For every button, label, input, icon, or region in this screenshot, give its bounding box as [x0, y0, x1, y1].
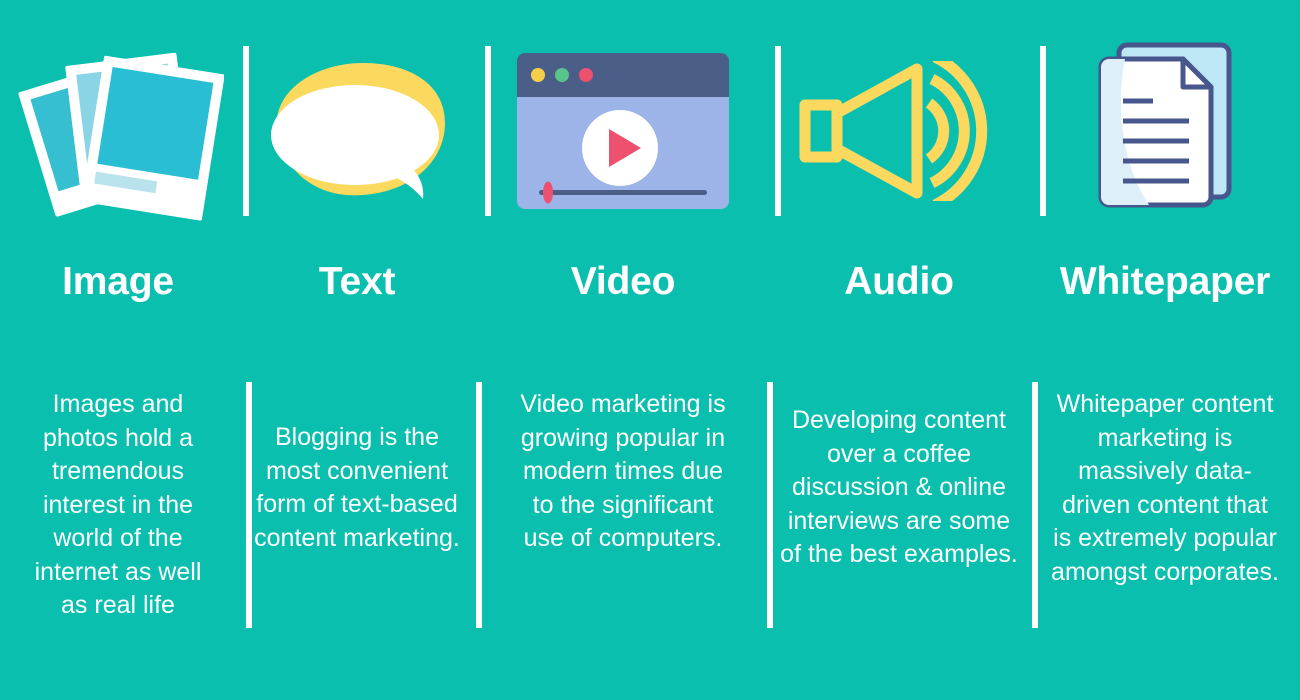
- category-description-audio: Developing content over a coffee discuss…: [779, 388, 1019, 700]
- window-dot-yellow: [531, 68, 545, 82]
- category-column-text: Text Blogging is the most convenient for…: [236, 0, 478, 700]
- category-column-whitepaper: Whitepaper Whitepaper content marketing …: [1030, 0, 1300, 700]
- body-zone-whitepaper: Whitepaper content marketing is massivel…: [1030, 372, 1300, 700]
- category-heading-text: Text: [319, 262, 396, 301]
- icon-zone-text: [236, 0, 478, 262]
- divider-top-1: [243, 46, 249, 216]
- divider-bottom-2: [476, 382, 482, 628]
- video-player-icon: [517, 53, 729, 209]
- category-description-image: Images and photos hold a tremendous inte…: [18, 388, 218, 700]
- progress-track: [539, 190, 707, 195]
- divider-bottom-1: [246, 382, 252, 628]
- body-zone-image: Images and photos hold a tremendous inte…: [0, 372, 236, 700]
- divider-top-2: [485, 46, 491, 216]
- category-heading-whitepaper: Whitepaper: [1060, 262, 1270, 301]
- category-column-video: Video Video marketing is growing popular…: [478, 0, 768, 700]
- body-zone-text: Blogging is the most convenient form of …: [236, 372, 478, 700]
- category-description-video: Video marketing is growing popular in mo…: [514, 388, 732, 700]
- speech-bubble-icon: [263, 55, 451, 207]
- window-dot-red: [579, 68, 593, 82]
- category-heading-video: Video: [571, 262, 675, 301]
- category-description-whitepaper: Whitepaper content marketing is massivel…: [1050, 388, 1280, 700]
- category-description-text: Blogging is the most convenient form of …: [250, 388, 465, 700]
- body-zone-video: Video marketing is growing popular in mo…: [478, 372, 768, 700]
- heading-zone-audio: Audio: [768, 262, 1030, 372]
- category-heading-image: Image: [62, 262, 174, 301]
- category-columns: Image Images and photos hold a tremendou…: [0, 0, 1300, 700]
- speaker-icon: [799, 61, 999, 201]
- body-zone-audio: Developing content over a coffee discuss…: [768, 372, 1030, 700]
- progress-handle: [543, 182, 553, 204]
- heading-zone-text: Text: [236, 262, 478, 372]
- icon-zone-audio: [768, 0, 1030, 262]
- divider-top-3: [775, 46, 781, 216]
- category-column-audio: Audio Developing content over a coffee d…: [768, 0, 1030, 700]
- photo-stack-icon: [12, 38, 224, 224]
- infographic-board: Image Images and photos hold a tremendou…: [0, 0, 1300, 700]
- icon-zone-video: [478, 0, 768, 262]
- document-stack-icon: [1095, 41, 1235, 221]
- window-dot-green: [555, 68, 569, 82]
- icon-zone-image: [0, 0, 236, 262]
- heading-zone-whitepaper: Whitepaper: [1030, 262, 1300, 372]
- heading-zone-image: Image: [0, 262, 236, 372]
- heading-zone-video: Video: [478, 262, 768, 372]
- category-heading-audio: Audio: [844, 262, 953, 301]
- category-column-image: Image Images and photos hold a tremendou…: [0, 0, 236, 700]
- divider-bottom-3: [767, 382, 773, 628]
- icon-zone-whitepaper: [1030, 0, 1300, 262]
- divider-top-4: [1040, 46, 1046, 216]
- divider-bottom-4: [1032, 382, 1038, 628]
